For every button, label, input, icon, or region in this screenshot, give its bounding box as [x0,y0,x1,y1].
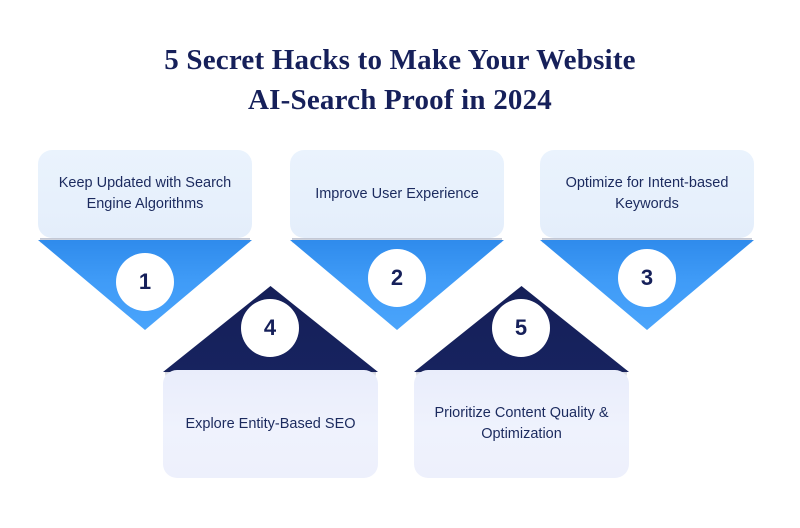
step-3-card[interactable]: Optimize for Intent-based Keywords [540,150,754,238]
step-2-card[interactable]: Improve User Experience [290,150,504,238]
step-4-label: Explore Entity-Based SEO [185,414,355,435]
step-1-card[interactable]: Keep Updated with Search Engine Algorith… [38,150,252,238]
page-title-line-2: AI-Search Proof in 2024 [0,80,800,120]
step-3-number: 3 [641,265,653,291]
step-4-number: 4 [264,315,276,341]
page-title-line-1: 5 Secret Hacks to Make Your Website [0,40,800,80]
step-3-label: Optimize for Intent-based Keywords [556,173,738,215]
page-title: 5 Secret Hacks to Make Your Website AI-S… [0,40,800,120]
step-4-number-badge: 4 [241,299,299,357]
step-2-number: 2 [391,265,403,291]
step-4-card[interactable]: Explore Entity-Based SEO [163,370,378,478]
step-5-label: Prioritize Content Quality & Optimizatio… [430,403,613,445]
step-5-number: 5 [515,315,527,341]
step-5-card[interactable]: Prioritize Content Quality & Optimizatio… [414,370,629,478]
step-5-number-badge: 5 [492,299,550,357]
step-2-label: Improve User Experience [315,184,479,205]
infographic-canvas: 5 Secret Hacks to Make Your Website AI-S… [0,0,800,528]
step-1-label: Keep Updated with Search Engine Algorith… [54,173,236,215]
step-1-number: 1 [139,269,151,295]
